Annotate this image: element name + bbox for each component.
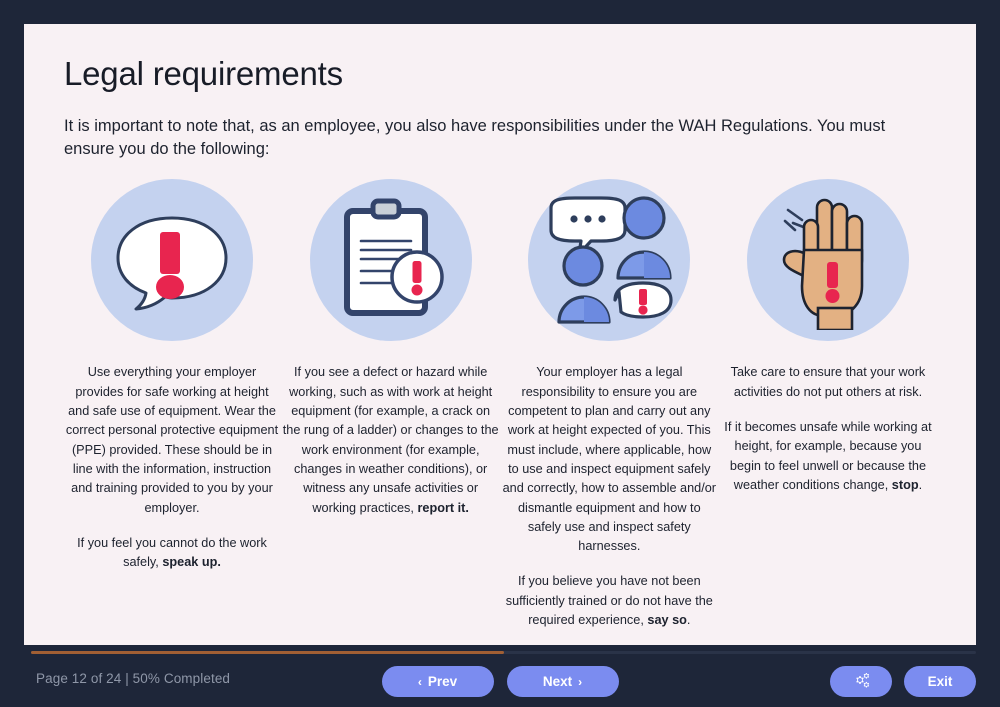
- page-status-text: Page 12 of 24 | 50% Completed: [36, 671, 230, 686]
- navigation-footer: Page 12 of 24 | 50% Completed ‹ Prev Nex…: [0, 645, 1000, 707]
- slide-intro-text: It is important to note that, as an empl…: [64, 115, 936, 162]
- requirement-text-2a: If you see a defect or hazard while work…: [283, 363, 499, 517]
- slide-card: Legal requirements It is important to no…: [24, 24, 976, 645]
- requirement-column-2: If you see a defect or hazard while work…: [283, 179, 499, 630]
- settings-button[interactable]: [830, 666, 892, 697]
- illustration-circle-3: [528, 179, 690, 341]
- prev-button[interactable]: ‹ Prev: [382, 666, 494, 697]
- exit-button[interactable]: Exit: [904, 666, 976, 697]
- requirement-text-1a: Use everything your employer provides fo…: [64, 363, 280, 517]
- illustration-circle-1: [91, 179, 253, 341]
- clipboard-alert-icon: [333, 197, 449, 323]
- requirement-text-3b: If you believe you have not been suffici…: [501, 572, 717, 630]
- next-button[interactable]: Next ›: [507, 666, 619, 697]
- exit-button-label: Exit: [928, 674, 953, 689]
- gears-icon: [851, 672, 871, 692]
- chevron-left-icon: ‹: [418, 676, 422, 688]
- requirement-text-4a: Take care to ensure that your work activ…: [720, 363, 936, 402]
- chevron-right-icon: ›: [578, 676, 582, 688]
- requirement-text-3a: Your employer has a legal responsibility…: [501, 363, 717, 556]
- progress-bar-fill: [31, 651, 504, 654]
- illustration-circle-4: [747, 179, 909, 341]
- prev-button-label: Prev: [428, 674, 457, 689]
- illustration-circle-2: [310, 179, 472, 341]
- requirement-column-1: Use everything your employer provides fo…: [64, 179, 280, 630]
- progress-bar-track: [31, 651, 976, 654]
- nav-right-group: Exit: [830, 666, 976, 697]
- requirement-column-4: Take care to ensure that your work activ…: [720, 179, 936, 630]
- next-button-label: Next: [543, 674, 572, 689]
- requirement-column-3: Your employer has a legal responsibility…: [501, 179, 717, 630]
- raised-hand-stop-icon: [768, 190, 888, 330]
- people-speech-bubbles-icon: [543, 196, 675, 324]
- requirement-text-1b: If you feel you cannot do the work safel…: [64, 534, 280, 573]
- elearning-slide-viewer: Legal requirements It is important to no…: [0, 0, 1000, 707]
- requirements-columns: Use everything your employer provides fo…: [64, 179, 936, 630]
- speech-bubble-exclamation-icon: [108, 204, 236, 316]
- page-title: Legal requirements: [64, 54, 936, 94]
- requirement-text-4b: If it becomes unsafe while working at he…: [720, 418, 936, 495]
